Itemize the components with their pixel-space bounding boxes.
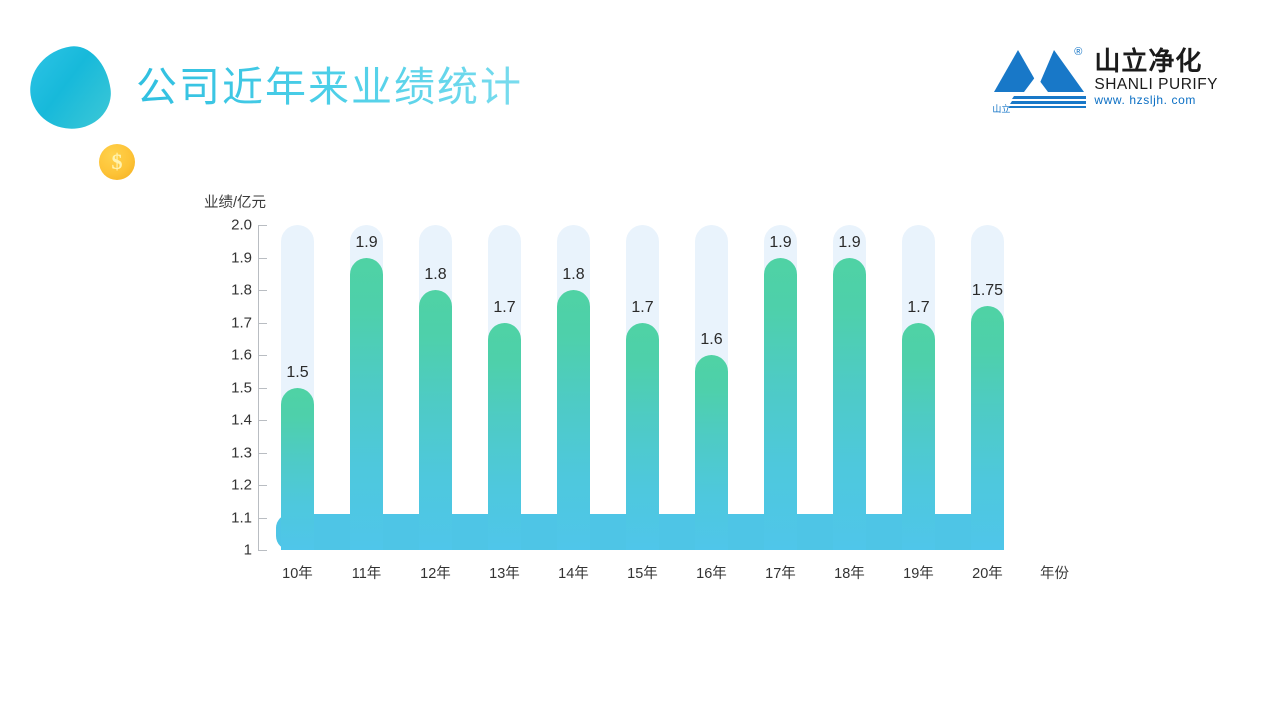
bar-value-label: 1.5 [286,364,308,382]
bar-value-label: 1.7 [631,299,653,317]
slide-canvas: $ 公司近年来业绩统计 山立 ® 山立净化 SHANLI PURIFY www.… [0,0,1280,720]
x-axis-label: 17年 [765,562,796,583]
x-axis-label: 10年 [282,562,313,583]
bar-slot[interactable]: 1.7 [488,225,521,550]
y-axis-tick-label: 2.0 [206,217,252,234]
bar-slot[interactable]: 1.5 [281,225,314,550]
bar-slot[interactable]: 1.8 [419,225,452,550]
y-axis-tick [258,420,267,421]
y-axis-tick-label: 1.1 [206,509,252,526]
y-axis-tick [258,388,267,389]
x-axis-label: 15年 [627,562,658,583]
y-axis-tick [258,258,267,259]
plot-area: 1.51.91.81.71.81.71.61.91.91.71.75 [276,225,1002,550]
bar-value-label: 1.75 [972,282,1003,300]
y-axis-tick [258,453,267,454]
y-axis-tick-label: 1.7 [206,314,252,331]
bar-value-label: 1.9 [769,234,791,252]
bar-fill [488,323,521,551]
y-axis-tick-label: 1.9 [206,249,252,266]
bar-slot[interactable]: 1.8 [557,225,590,550]
y-axis-tick [258,355,267,356]
bar-slot[interactable]: 1.9 [350,225,383,550]
x-axis-label: 18年 [834,562,865,583]
x-axis-label: 12年 [420,562,451,583]
bar-fill [626,323,659,551]
bar-fill [419,290,452,550]
bar-slot[interactable]: 1.75 [971,225,1004,550]
bar-value-label: 1.9 [355,234,377,252]
bar-slot[interactable]: 1.9 [833,225,866,550]
bar-fill [971,306,1004,550]
y-axis-tick [258,290,267,291]
bar-fill [557,290,590,550]
bar-fill [695,355,728,550]
y-axis-tick [258,323,267,324]
bar-fill [833,258,866,551]
y-axis-tick [258,225,267,226]
y-axis-tick-label: 1 [206,542,252,559]
bar-value-label: 1.7 [907,299,929,317]
y-axis-tick-label: 1.6 [206,347,252,364]
performance-bar-chart: 业绩/亿元 年份 11.11.21.31.41.51.61.71.81.92.0… [0,0,1280,720]
x-axis-label: 19年 [903,562,934,583]
y-axis-tick-label: 1.4 [206,412,252,429]
bar-fill [764,258,797,551]
y-axis-tick [258,485,267,486]
bar-slot[interactable]: 1.7 [902,225,935,550]
x-axis-label: 16年 [696,562,727,583]
x-axis-label: 11年 [352,562,382,583]
bar-fill [281,388,314,551]
y-axis-tick [258,518,267,519]
bar-value-label: 1.8 [562,266,584,284]
y-axis-tick [258,550,267,551]
bar-slot[interactable]: 1.7 [626,225,659,550]
bar-slot[interactable]: 1.6 [695,225,728,550]
y-axis-tick-label: 1.3 [206,444,252,461]
bar-value-label: 1.7 [493,299,515,317]
y-axis-tick-label: 1.5 [206,379,252,396]
bar-fill [350,258,383,551]
bar-value-label: 1.9 [838,234,860,252]
x-axis-label: 13年 [489,562,520,583]
x-axis-label: 14年 [558,562,589,583]
bar-value-label: 1.8 [424,266,446,284]
y-axis-tick-label: 1.2 [206,477,252,494]
x-axis-label: 20年 [972,562,1003,583]
x-axis-title: 年份 [1040,562,1069,583]
y-axis-tick-label: 1.8 [206,282,252,299]
bar-slot[interactable]: 1.9 [764,225,797,550]
bar-fill [902,323,935,551]
y-axis-title: 业绩/亿元 [204,191,266,212]
bar-value-label: 1.6 [700,331,722,349]
